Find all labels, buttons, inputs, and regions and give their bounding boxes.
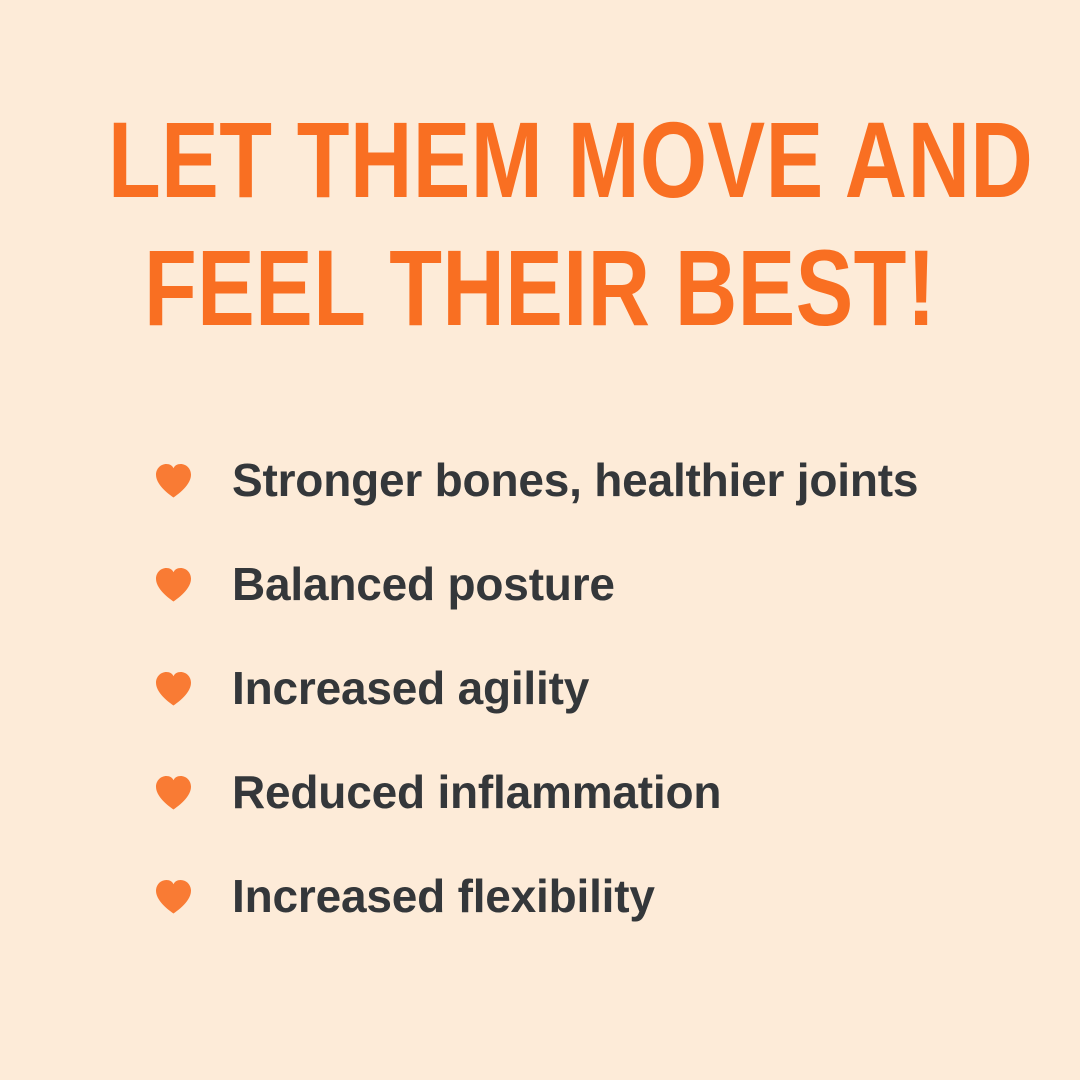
benefit-label: Increased agility bbox=[232, 662, 589, 714]
heart-icon bbox=[155, 567, 192, 602]
list-item: Reduced inflammation bbox=[155, 740, 1055, 844]
heart-icon bbox=[155, 463, 192, 498]
list-item: Balanced posture bbox=[155, 532, 1055, 636]
heart-icon bbox=[155, 671, 192, 706]
list-item: Increased flexibility bbox=[155, 844, 1055, 948]
list-item: Increased agility bbox=[155, 636, 1055, 740]
page-title: LET THEM MOVE AND FEEL THEIR BEST! bbox=[0, 96, 1080, 352]
benefit-label: Increased flexibility bbox=[232, 870, 655, 922]
benefit-label: Reduced inflammation bbox=[232, 766, 721, 818]
headline-line-1: LET THEM MOVE AND bbox=[108, 96, 972, 224]
benefits-list: Stronger bones, healthier joints Balance… bbox=[155, 428, 1055, 948]
headline-line-2: FEEL THEIR BEST! bbox=[108, 224, 972, 352]
benefit-label: Stronger bones, healthier joints bbox=[232, 454, 918, 506]
heart-icon bbox=[155, 775, 192, 810]
heart-icon bbox=[155, 879, 192, 914]
poster-canvas: LET THEM MOVE AND FEEL THEIR BEST! Stron… bbox=[0, 0, 1080, 1080]
benefit-label: Balanced posture bbox=[232, 558, 615, 610]
list-item: Stronger bones, healthier joints bbox=[155, 428, 1055, 532]
